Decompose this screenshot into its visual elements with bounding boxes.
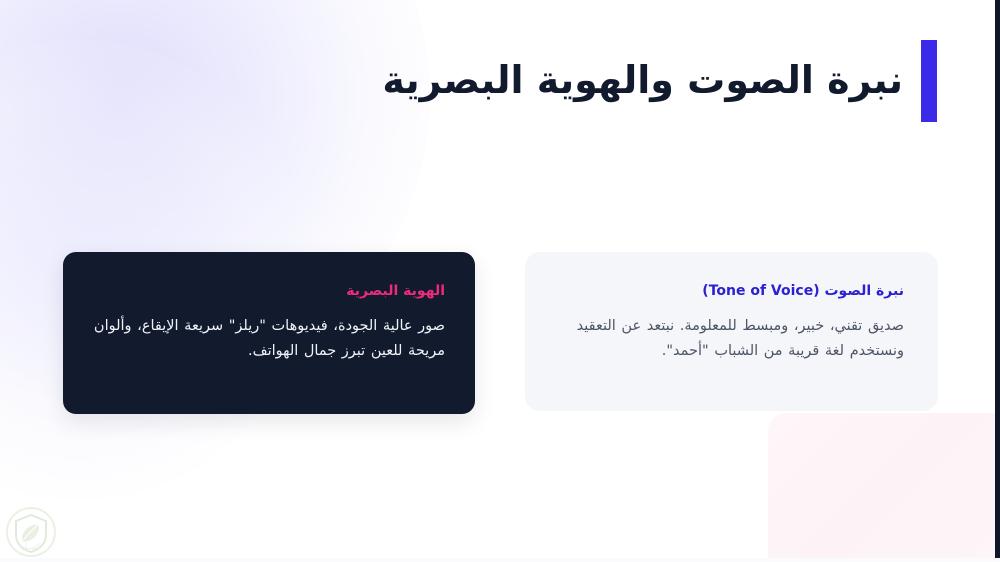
card-tone-of-voice[interactable]: نبرة الصوت (Tone of Voice) صديق تقني، خب… [525,252,938,411]
background-edge-bottom [0,558,1000,562]
slide-title-row: نبرة الصوت والهوية البصرية [382,34,1000,129]
watermark-label: كنبــل [3,542,59,551]
page-title: نبرة الصوت والهوية البصرية [382,59,903,103]
background-block-pink [768,413,1000,562]
card-visual-identity[interactable]: الهوية البصرية صور عالية الجودة، فيديوها… [63,252,475,414]
card-tone-of-voice-body: صديق تقني، خبير، ومبسط للمعلومة. نبتعد ع… [555,314,904,364]
shield-leaf-icon [3,506,59,562]
card-tone-of-voice-heading: نبرة الصوت (Tone of Voice) [555,282,904,300]
title-accent-bar [921,40,937,122]
card-visual-identity-body: صور عالية الجودة، فيديوهات "ريلز" سريعة … [93,314,445,364]
watermark-logo: كنبــل [3,506,59,562]
slide-canvas: نبرة الصوت والهوية البصرية الهوية البصري… [0,0,1000,562]
card-visual-identity-heading: الهوية البصرية [93,282,445,300]
